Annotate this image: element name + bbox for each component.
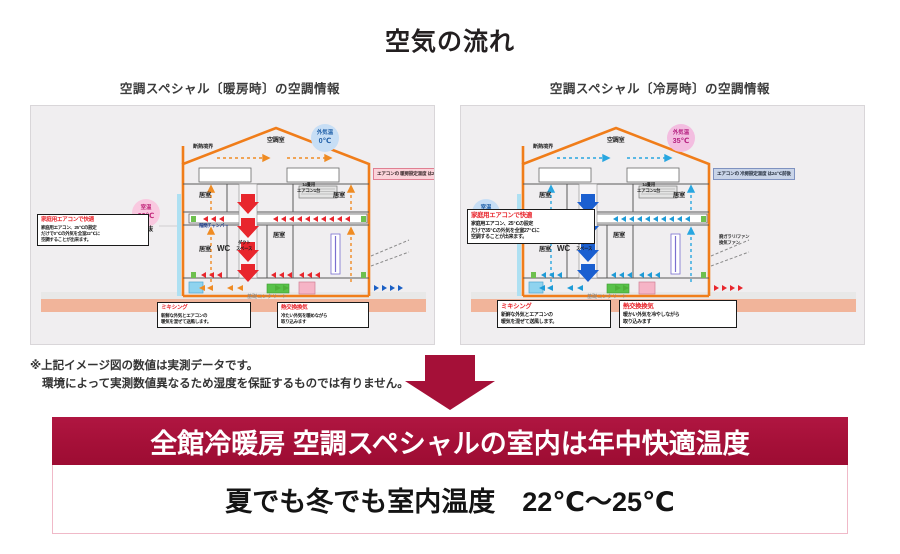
ac-setting-line-3-heating: は25℃前後 <box>428 171 435 176</box>
room-label-cooling-3: 居室 <box>539 246 551 254</box>
label-insulation-boundary-heating: 断熱境界 <box>193 144 213 151</box>
room-label-heating-3: 居室 <box>199 246 211 254</box>
disclaimer-line-1: ※上記イメージ図の数値は実測データです。 <box>30 360 258 372</box>
callout-mixing-title-heating: ミキシング <box>161 305 247 312</box>
callout-heat-exchange-title-cooling: 熱交換換気 <box>623 303 733 311</box>
ac-setting-line-1-cooling: エアコンの <box>717 171 739 176</box>
callout-comfort-cooling: 家庭用エアコンで快適 家庭用エアコン、25℃の設定 だけで35℃の外気を全室27… <box>467 209 595 244</box>
callout-mixing-title-cooling: ミキシング <box>501 303 607 311</box>
callout-heat-exchange-line-2-heating: 取り込みます <box>281 319 365 325</box>
ac-setting-box-cooling: エアコンの 冷房設定温度 は24℃前後 <box>713 168 795 180</box>
summary-banner-text: 全館冷暖房 空調スペシャルの室内は年中快適温度 <box>150 422 750 461</box>
duct-line-2-heating: スペース <box>236 246 252 251</box>
callout-comfort-body-cooling: 家庭用エアコン、25℃の設定 だけで35℃の外気を全室27℃に 空調することが出… <box>471 221 591 241</box>
slab-label-heating: 基礎コンクリート <box>247 294 287 301</box>
callout-mixing-line-2-cooling: 暖気を混ぜて送風します。 <box>501 319 607 326</box>
page-root: 空気の流れ 空調スペシャル〔暖房時〕の空調情報 空調スペシャル〔冷房時〕の空調情… <box>0 0 900 554</box>
wc-label-cooling: WC <box>557 244 570 254</box>
down-arrow-icon <box>403 355 497 411</box>
room-label-heating-2: 居室 <box>333 192 345 200</box>
room-label-cooling-1: 居室 <box>539 192 551 200</box>
callout-heat-exchange-heating: 熱交換換気 冷たい外気を暖めながら 取り込みます <box>277 302 369 328</box>
chamber-label-heating: 階間チャンバー <box>199 223 228 229</box>
ac-unit-line-2-heating: エアコン1台 <box>297 188 320 193</box>
callout-comfort-body-heating: 家庭用エアコン、25℃の設定 だけで0℃の外気を全室22℃に 空調することが出来… <box>41 225 145 243</box>
ac-setting-line-2-heating: 暖房設定温度 <box>400 171 426 176</box>
duct-line-2-cooling: スペース <box>576 246 592 251</box>
ac-unit-line-1-cooling: 14畳用 <box>642 182 655 187</box>
highlight-box-text: 夏でも冬でも室内温度 22℃〜25℃ <box>225 480 674 519</box>
room-label-heating-1: 居室 <box>199 192 211 200</box>
duct-label-heating: ダクト スペース <box>236 240 252 251</box>
fan-line-1-cooling: 廃ガラリ/ファン <box>719 234 749 239</box>
callout-comfort-title-cooling: 家庭用エアコンで快適 <box>471 212 591 220</box>
summary-banner: 全館冷暖房 空調スペシャルの室内は年中快適温度 <box>52 417 848 465</box>
ac-unit-line-1-heating: 14畳用 <box>302 182 315 187</box>
callout-mixing-body-cooling: 新鮮な外気とエアコンの 暖気を混ぜて送風します。 <box>501 312 607 325</box>
callout-heat-exchange-line-2-cooling: 取り込みます <box>623 319 733 326</box>
outdoor-temp-bubble-cooling: 外気温 35℃ <box>667 124 695 152</box>
outdoor-temp-value-heating: 0℃ <box>319 137 332 145</box>
room-label-heating-4: 居室 <box>273 232 285 240</box>
callout-heat-exchange-body-heating: 冷たい外気を暖めながら 取り込みます <box>281 313 365 325</box>
ac-setting-box-heating: エアコンの 暖房設定温度 は25℃前後 <box>373 168 435 180</box>
fan-label-cooling: 廃ガラリ/ファン 換気ファン <box>719 234 749 245</box>
callout-comfort-title-heating: 家庭用エアコンで快適 <box>41 217 145 224</box>
ac-setting-line-3-cooling: は24℃前後 <box>768 171 791 176</box>
callout-comfort-line-3-heating: 空調することが出来ます。 <box>41 237 145 243</box>
callout-mixing-line-2-heating: 暖気を混ぜて送風します。 <box>161 319 247 325</box>
label-machine-room-cooling: 空調室 <box>607 138 624 146</box>
panel-heading-cooling: 空調スペシャル〔冷房時〕の空調情報 <box>460 78 860 97</box>
duct-line-1-heating: ダクト <box>238 240 251 245</box>
panel-heading-heating: 空調スペシャル〔暖房時〕の空調情報 <box>30 78 430 97</box>
callout-comfort-line-3-cooling: 空調することが出来ます。 <box>471 234 591 241</box>
wc-label-heating: WC <box>217 244 230 254</box>
outdoor-temp-value-cooling: 35℃ <box>673 137 690 145</box>
page-title: 空気の流れ <box>0 22 900 58</box>
ac-unit-label-heating: 14畳用 エアコン1台 <box>297 182 320 193</box>
callout-mixing-body-heating: 新鮮な外気とエアコンの 暖気を混ぜて送風します。 <box>161 313 247 325</box>
ac-unit-line-2-cooling: エアコン1台 <box>637 188 660 193</box>
outdoor-temp-bubble-heating: 外気温 0℃ <box>311 124 339 152</box>
callout-mixing-heating: ミキシング 新鮮な外気とエアコンの 暖気を混ぜて送風します。 <box>157 302 251 328</box>
callout-heat-exchange-title-heating: 熱交換換気 <box>281 305 365 312</box>
callout-comfort-heating: 家庭用エアコンで快適 家庭用エアコン、25℃の設定 だけで0℃の外気を全室22℃… <box>37 214 149 246</box>
highlight-box: 夏でも冬でも室内温度 22℃〜25℃ <box>52 465 848 534</box>
callout-heat-exchange-cooling: 熱交換換気 暖かい外気を冷やしながら 取り込みます <box>619 300 737 328</box>
diagram-heating: 断熱境界 空調室 外気温 0℃ 室温 22℃ エアコンの 暖房設定温度 は25℃… <box>30 105 435 345</box>
diagram-cooling: 断熱境界 空調室 外気温 35℃ 室温 27℃ エアコンの 冷房設定温度 は24… <box>460 105 865 345</box>
label-insulation-boundary-cooling: 断熱境界 <box>533 144 553 151</box>
ac-setting-line-2-cooling: 冷房設定温度 <box>740 171 766 176</box>
fan-line-2-cooling: 換気ファン <box>719 240 740 245</box>
room-label-cooling-4: 居室 <box>613 232 625 240</box>
ac-setting-line-1-heating: エアコンの <box>377 171 399 176</box>
ac-unit-label-cooling: 14畳用 エアコン1台 <box>637 182 660 193</box>
callout-heat-exchange-body-cooling: 暖かい外気を冷やしながら 取り込みます <box>623 312 733 325</box>
callout-mixing-cooling: ミキシング 新鮮な外気とエアコンの 暖気を混ぜて送風します。 <box>497 300 611 328</box>
label-machine-room-heating: 空調室 <box>267 138 284 146</box>
room-label-cooling-2: 居室 <box>673 192 685 200</box>
